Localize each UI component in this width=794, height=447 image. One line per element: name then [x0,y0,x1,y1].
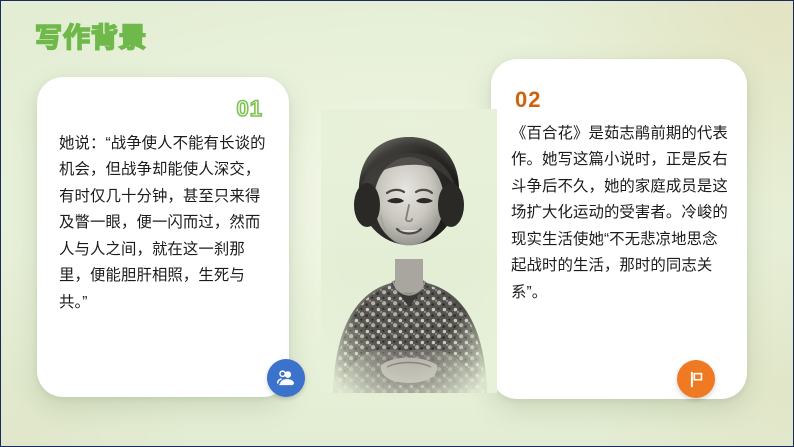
users-icon[interactable] [267,359,305,397]
content-card-02[interactable]: 02 《百合花》是茹志鹃前期的代表作。她写这篇小说时，正是反右斗争后不久，她的家… [491,59,747,399]
card-body-text: 《百合花》是茹志鹃前期的代表作。她写这篇小说时，正是反右斗争后不久，她的家庭成员… [511,121,733,306]
card-body-text: 她说：“战争使人不能有长谈的机会，但战争却能使人深交，有时仅几十分钟，甚至只来得… [59,131,271,316]
slide-canvas: 写作背景 01 她说：“战争使人不能有长谈的机会，但战争却能使人深交，有时仅几十… [0,0,794,447]
content-card-01[interactable]: 01 她说：“战争使人不能有长谈的机会，但战争却能使人深交，有时仅几十分钟，甚至… [37,77,289,397]
card-badge-number: 02 [515,89,541,111]
page-title: 写作背景 [35,25,147,52]
flag-icon[interactable] [677,360,715,398]
card-badge-number: 01 [237,98,263,120]
portrait-photo [321,109,497,393]
